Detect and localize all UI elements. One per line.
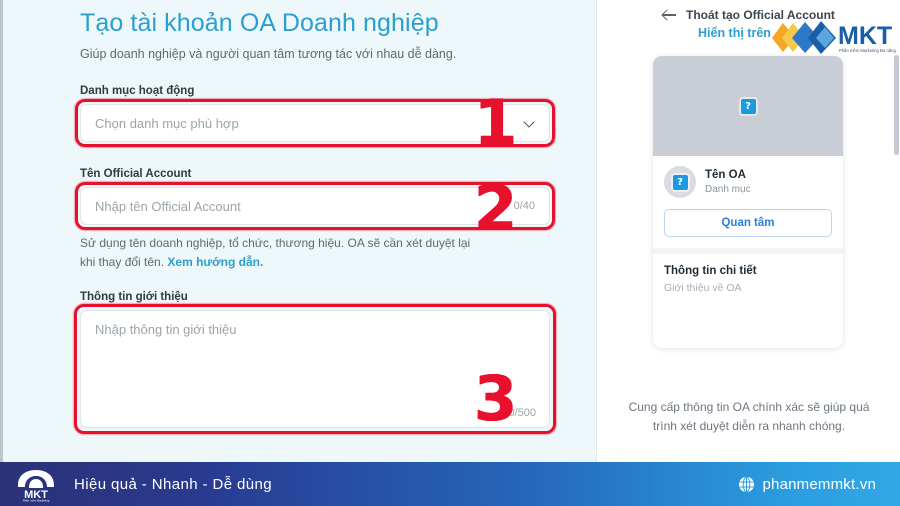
cover-image-placeholder: ? xyxy=(653,56,843,156)
oa-identity-text: Tên OA Danh mục xyxy=(705,168,751,197)
page-title: Tạo tài khoản OA Doanh nghiệp xyxy=(80,6,550,40)
view-guide-link[interactable]: Xem hướng dẫn. xyxy=(167,255,263,269)
page-subtitle: Giúp doanh nghiệp và người quan tâm tươn… xyxy=(80,46,550,63)
oa-preview-panel: Thoát tạo Official Account ? ? Tên OA Da… xyxy=(596,0,900,462)
footer-website-text: phanmemmkt.vn xyxy=(763,476,876,493)
svg-text:Phần mềm Marketing Đa năng: Phần mềm Marketing Đa năng xyxy=(839,48,896,53)
oa-name-input-placeholder: Nhập tên Official Account xyxy=(95,199,514,214)
create-oa-form-panel: Tạo tài khoản OA Doanh nghiệp Giúp doanh… xyxy=(0,0,596,462)
screenshot-root: Tạo tài khoản OA Doanh nghiệp Giúp doanh… xyxy=(0,0,900,506)
footer-bar: MKT Phần mềm Marketing Hiệu quả - Nhanh … xyxy=(0,462,900,506)
display-on-label: Hiển thị trên xyxy=(698,26,771,40)
globe-icon xyxy=(738,476,755,493)
card-separator xyxy=(653,248,843,254)
oa-category-preview: Danh mục xyxy=(705,183,751,197)
annotation-number-3: 3 xyxy=(474,368,517,430)
back-arrow-icon[interactable] xyxy=(662,7,677,22)
category-select-placeholder: Chọn danh mục phù hợp xyxy=(95,116,518,131)
detail-section-description: Giới thiệu về OA xyxy=(664,282,832,294)
oa-identity-row: ? Tên OA Danh mục xyxy=(664,166,832,198)
avatar-broken-image-icon: ? xyxy=(673,175,688,190)
panel-divider xyxy=(596,0,597,462)
chevron-down-icon[interactable] xyxy=(524,118,535,129)
oa-name-preview: Tên OA xyxy=(705,168,751,182)
broken-image-icon: ? xyxy=(741,99,756,114)
oa-name-helper-body: Sử dụng tên doanh nghiệp, tổ chức, thươn… xyxy=(80,236,470,269)
description-textarea-placeholder: Nhập thông tin giới thiệu xyxy=(95,322,535,337)
oa-name-helper-text: Sử dụng tên doanh nghiệp, tổ chức, thươn… xyxy=(80,234,480,272)
footer-tagline: Hiệu quả - Nhanh - Dễ dùng xyxy=(74,476,272,493)
footer-mkt-logo: MKT Phần mềm Marketing xyxy=(12,466,60,502)
preview-scrollbar[interactable] xyxy=(894,55,899,155)
preview-caption: Cung cấp thông tin OA chính xác sẽ giúp … xyxy=(618,398,880,436)
footer-website[interactable]: phanmemmkt.vn xyxy=(738,476,876,493)
oa-preview-card: ? ? Tên OA Danh mục Quan tâm Thông tin c… xyxy=(653,56,843,348)
detail-section-title: Thông tin chi tiết xyxy=(664,265,832,277)
preview-card-body: ? Tên OA Danh mục Quan tâm Thông tin chi… xyxy=(653,156,843,348)
annotation-number-2: 2 xyxy=(474,178,517,240)
description-field-label: Thông tin giới thiệu xyxy=(80,291,550,303)
annotation-number-1: 1 xyxy=(474,92,517,154)
avatar: ? xyxy=(664,166,696,198)
svg-text:MKT: MKT xyxy=(838,22,892,50)
mkt-watermark-logo: MKT Phần mềm Marketing Đa năng xyxy=(768,16,896,58)
follow-button[interactable]: Quan tâm xyxy=(664,209,832,237)
detail-section-filler xyxy=(664,294,832,336)
svg-text:Phần mềm Marketing: Phần mềm Marketing xyxy=(23,499,50,503)
window-left-edge xyxy=(0,0,3,462)
